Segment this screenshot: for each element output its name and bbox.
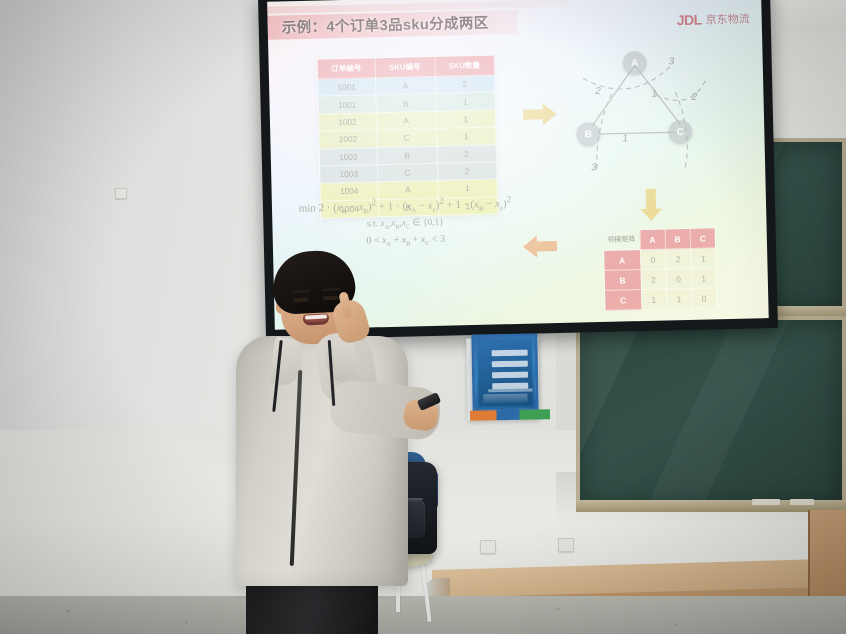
cell-qty: 2 <box>435 75 495 94</box>
coef-ab: 2 <box>318 202 324 214</box>
col-order-id: 订单编号 <box>317 58 376 79</box>
wall-poster <box>471 333 538 412</box>
cell-qty: 1 <box>436 110 496 129</box>
arrow-down-icon <box>640 189 663 222</box>
cell-order: 1001 <box>318 95 376 114</box>
eraser-2 <box>790 499 814 505</box>
optimization-formula: min 2 · (xA − xB)2 + 1 · (xA − xc)2 + 1 … <box>280 192 531 253</box>
chalkboard-lower <box>576 316 846 510</box>
matrix-cell: 2 <box>641 269 667 290</box>
wall-outlet-stage-2 <box>558 538 574 552</box>
adjacency-matrix: 邻接矩阵 A B C A021B201C110 <box>603 227 718 311</box>
poster-skyline <box>483 394 527 404</box>
col-sku-qty: SKU数量 <box>434 55 494 76</box>
coef-ac: 1 <box>388 201 394 213</box>
cell-qty: 1 <box>436 127 496 146</box>
wall-outlet-stage-1 <box>480 540 496 554</box>
coef-bc: 1 <box>455 199 461 211</box>
matrix-row-header: B <box>604 270 641 291</box>
poster-color-strip <box>470 409 550 420</box>
wall-outlet-left <box>115 188 127 199</box>
terrazzo-floor <box>0 596 846 634</box>
arrow-right-icon <box>523 103 558 126</box>
min-keyword: min <box>299 202 316 214</box>
domain-set: {0,1} <box>423 218 444 228</box>
cell-sku: B <box>377 146 437 165</box>
st-keyword: s.t. <box>367 220 378 230</box>
matrix-header-row: 邻接矩阵 A B C <box>603 228 715 251</box>
matrix-row-header: C <box>605 290 642 311</box>
cell-order: 1002 <box>319 130 377 149</box>
cell-qty: 2 <box>437 144 497 163</box>
cell-sku: B <box>376 94 436 113</box>
matrix-cell: 1 <box>691 268 717 289</box>
col-sku-id: SKU编号 <box>375 56 435 77</box>
matrix-col-b: B <box>665 228 691 249</box>
cell-sku: A <box>376 111 436 130</box>
poster-text-line-3 <box>492 372 528 379</box>
edge-weight-ac: 1 <box>651 89 657 100</box>
matrix-cell: 0 <box>666 268 692 289</box>
cut-label-right: 2 <box>691 92 697 103</box>
poster-face <box>477 340 532 407</box>
jdl-logo-text: 京东物流 <box>705 10 749 27</box>
bound-low: 0 <box>366 236 371 247</box>
poster-text-line-2 <box>492 361 528 368</box>
matrix-cell: 1 <box>666 288 692 309</box>
jdl-mark: JDL <box>677 12 702 29</box>
cell-order: 1001 <box>317 78 375 97</box>
poster-text-line-1 <box>492 350 528 357</box>
cell-sku: C <box>377 128 437 147</box>
matrix-cell: 1 <box>690 248 716 269</box>
cell-order: 1003 <box>319 147 377 166</box>
presenter-eye-right <box>323 296 338 301</box>
cell-order: 1003 <box>320 165 378 184</box>
matrix-row-header: A <box>604 250 641 271</box>
cell-sku: C <box>378 163 438 182</box>
cell-sku: A <box>376 76 436 95</box>
matrix-row: B201 <box>604 268 716 291</box>
matrix-cell: 2 <box>665 248 691 269</box>
edge-weight-bc: 1 <box>622 133 628 144</box>
matrix-row: A021 <box>604 248 716 271</box>
matrix-col-c: C <box>690 228 716 249</box>
matrix-body: A021B201C110 <box>604 248 717 311</box>
cell-qty: 1 <box>435 92 495 111</box>
matrix-corner-label: 邻接矩阵 <box>603 230 640 251</box>
matrix-col-a: A <box>640 229 666 250</box>
jdl-logo: JDL 京东物流 <box>677 10 750 28</box>
cell-order: 1002 <box>318 112 376 131</box>
sku-affinity-graph: A B C 2 1 1 3 2 3 <box>568 34 751 188</box>
edge-weight-ab: 2 <box>595 86 601 97</box>
cut-label-bottom: 3 <box>591 162 597 173</box>
matrix-row: C110 <box>605 288 717 311</box>
cut-label-top: 3 <box>669 56 675 67</box>
poster-subtext <box>488 389 532 393</box>
matrix-cell: 0 <box>640 249 666 270</box>
eraser-1 <box>752 499 780 505</box>
classroom-photo: 示例：4个订单3品sku分成两区 JDL 京东物流 订单编号 SKU编号 SKU… <box>0 0 846 634</box>
bound-high: 3 <box>440 234 445 245</box>
matrix-cell: 1 <box>641 289 667 310</box>
matrix-cell: 0 <box>691 288 717 309</box>
cell-qty: 2 <box>437 162 497 181</box>
